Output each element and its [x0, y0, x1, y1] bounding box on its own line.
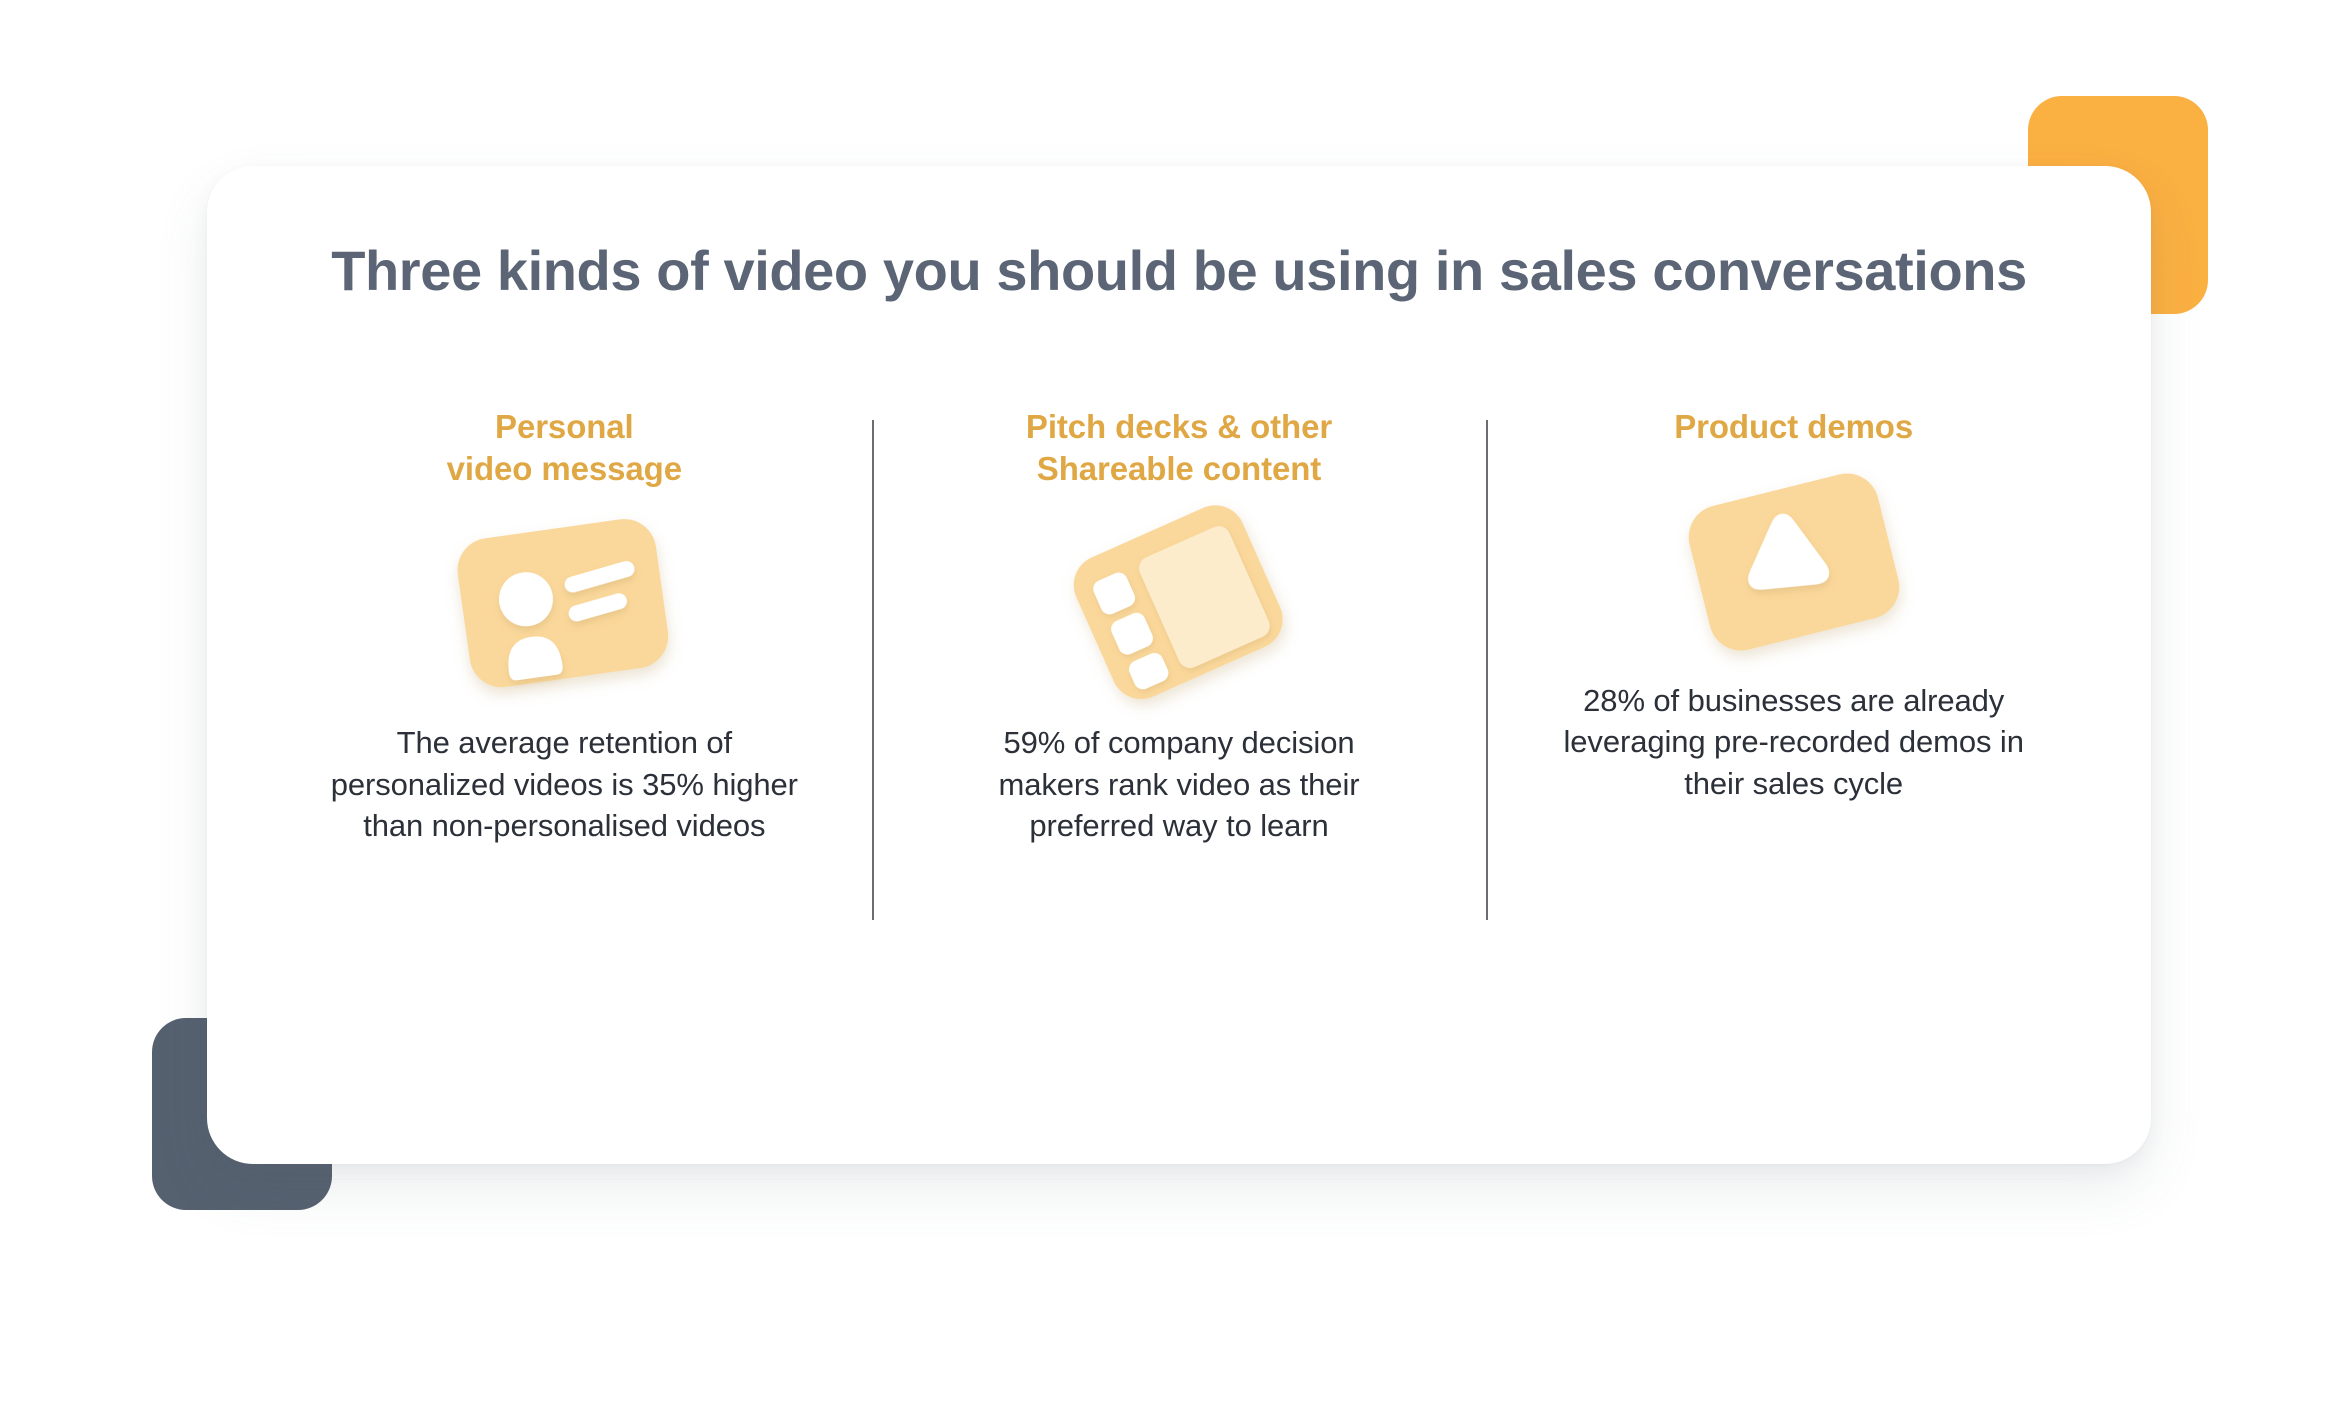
column-1-heading: Personal video message	[447, 400, 682, 490]
columns-container: Personal video message	[257, 400, 2101, 960]
infographic-stage: Three kinds of video you should be using…	[0, 0, 2348, 1412]
column-3-icon-wrap	[1644, 462, 1944, 662]
column-1-heading-line2: video message	[447, 448, 682, 490]
column-2-icon-wrap	[1029, 504, 1329, 704]
column-3-body: 28% of businesses are already leveraging…	[1559, 680, 2029, 804]
column-3-heading: Product demos	[1674, 400, 1913, 448]
column-product-demos: Product demos	[1486, 400, 2101, 960]
column-1-body: The average retention of personalized vi…	[329, 722, 799, 846]
column-pitch-decks: Pitch decks & other Shareable content	[872, 400, 1487, 960]
contact-card-icon	[449, 512, 679, 697]
column-2-heading: Pitch decks & other Shareable content	[1026, 400, 1332, 490]
column-1-heading-line1: Personal	[447, 406, 682, 448]
column-3-heading-line1: Product demos	[1674, 406, 1913, 448]
column-2-body: 59% of company decision makers rank vide…	[959, 722, 1399, 846]
column-personal-video-message: Personal video message	[257, 400, 872, 960]
column-1-icon-wrap	[414, 504, 714, 704]
column-2-heading-line1: Pitch decks & other	[1026, 406, 1332, 448]
video-play-icon	[1679, 470, 1909, 655]
column-2-heading-line2: Shareable content	[1026, 448, 1332, 490]
page-title: Three kinds of video you should be using…	[207, 238, 2151, 303]
content-card: Three kinds of video you should be using…	[207, 166, 2151, 1164]
slide-deck-icon	[1064, 512, 1294, 697]
